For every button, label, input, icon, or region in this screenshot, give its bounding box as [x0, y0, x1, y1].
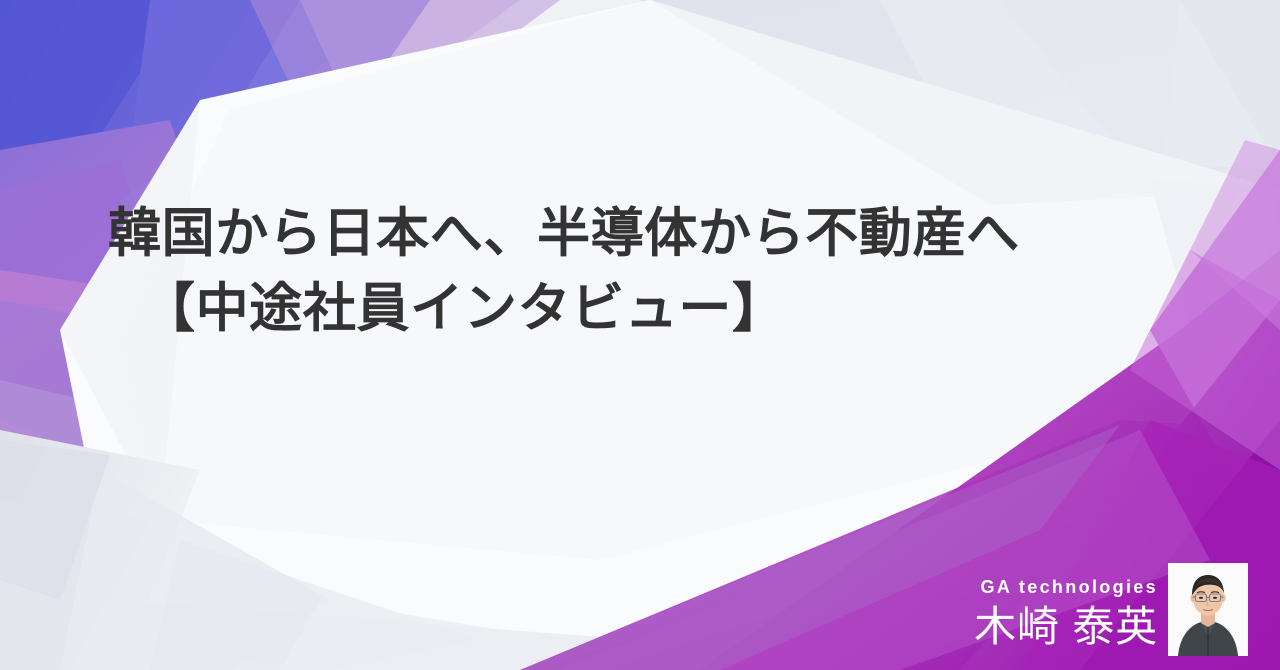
page-title: 韓国から日本へ、半導体から不動産へ 【中途社員インタビュー】	[108, 196, 1228, 347]
title-slide: 韓国から日本へ、半導体から不動産へ 【中途社員インタビュー】 GA techno…	[0, 0, 1280, 670]
speaker-name: 木崎 泰英	[974, 603, 1158, 650]
title-line-secondary: 【中途社員インタビュー】	[142, 271, 1228, 346]
title-line-primary: 韓国から日本へ、半導体から不動産へ	[108, 196, 1228, 271]
speaker-headshot-photo	[1168, 563, 1248, 656]
headshot-illustration	[1168, 563, 1248, 656]
company-name: GA technologies	[974, 576, 1158, 599]
speaker-credit: GA technologies 木崎 泰英	[974, 576, 1158, 650]
